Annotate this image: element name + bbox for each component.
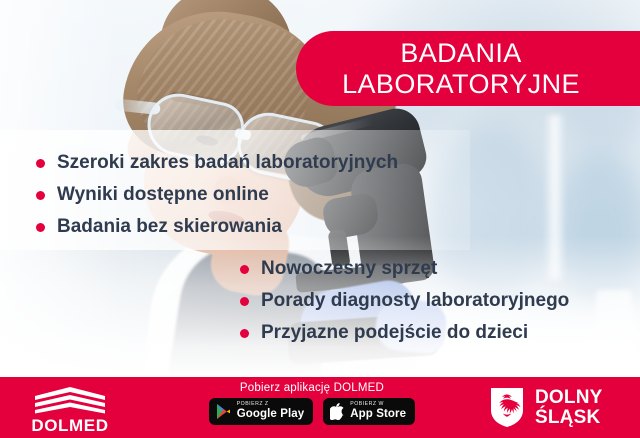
dolny-slask-wordmark: DOLNY ŚLĄSK bbox=[535, 388, 603, 427]
list-item: Szeroki zakres badań laboratoryjnych bbox=[36, 150, 398, 176]
list-item: Badania bez skierowania bbox=[36, 214, 398, 240]
bullet-dot-icon bbox=[36, 191, 45, 200]
bullet-dot-icon bbox=[240, 329, 249, 338]
google-play-icon bbox=[216, 403, 231, 420]
list-item-label: Nowoczesny sprzęt bbox=[261, 256, 437, 282]
store-badges: POBIERZ Z Google Play Pobierz w App Stor… bbox=[209, 398, 416, 425]
list-item-label: Przyjazne podejście do dzieci bbox=[261, 320, 528, 346]
list-item-label: Porady diagnosty laboratoryjnego bbox=[261, 288, 569, 314]
bullet-dot-icon bbox=[36, 223, 45, 232]
google-play-badge-big: Google Play bbox=[237, 409, 305, 421]
app-download-title: Pobierz aplikację DOLMED bbox=[240, 382, 384, 394]
list-item: Porady diagnosty laboratoryjnego bbox=[240, 288, 569, 314]
dolmed-roof-icon bbox=[33, 386, 107, 414]
dolny-slask-line-1: DOLNY bbox=[535, 388, 603, 407]
bullet-dot-icon bbox=[240, 265, 249, 274]
app-store-badge-small: Pobierz w bbox=[350, 402, 406, 407]
app-download-block: Pobierz aplikację DOLMED POBIERZ Z Googl… bbox=[200, 382, 424, 425]
list-item: Przyjazne podejście do dzieci bbox=[240, 320, 569, 346]
banner-title-line-2: LABORATORYJNE bbox=[342, 69, 580, 100]
feature-list-primary: Szeroki zakres badań laboratoryjnych Wyn… bbox=[36, 150, 398, 246]
feature-list-secondary: Nowoczesny sprzęt Porady diagnosty labor… bbox=[240, 256, 569, 352]
banner-title-line-1: BADANIA bbox=[400, 38, 521, 69]
app-store-badge-big: App Store bbox=[350, 409, 406, 421]
poster: BADANIA LABORATORYJNE Szeroki zakres bad… bbox=[0, 0, 640, 438]
dolny-slask-logo[interactable]: DOLNY ŚLĄSK bbox=[489, 386, 603, 428]
apple-icon bbox=[330, 403, 344, 420]
list-item-label: Wyniki dostępne online bbox=[57, 182, 269, 208]
app-store-badge-text: Pobierz w App Store bbox=[350, 402, 406, 421]
list-item: Wyniki dostępne online bbox=[36, 182, 398, 208]
google-play-badge[interactable]: POBIERZ Z Google Play bbox=[209, 398, 314, 425]
app-store-badge[interactable]: Pobierz w App Store bbox=[323, 398, 415, 425]
bullet-dot-icon bbox=[36, 159, 45, 168]
list-item-label: Szeroki zakres badań laboratoryjnych bbox=[57, 150, 398, 176]
dolmed-logo[interactable]: DOLMED bbox=[20, 386, 120, 436]
dolmed-wordmark: DOLMED bbox=[31, 416, 108, 436]
title-banner: BADANIA LABORATORYJNE bbox=[296, 31, 640, 106]
list-item: Nowoczesny sprzęt bbox=[240, 256, 569, 282]
google-play-badge-small: POBIERZ Z bbox=[237, 402, 305, 407]
lower-silesia-eagle-crest-icon bbox=[489, 386, 525, 428]
bullet-dot-icon bbox=[240, 297, 249, 306]
dolny-slask-line-2: ŚLĄSK bbox=[535, 408, 603, 427]
list-item-label: Badania bez skierowania bbox=[57, 214, 282, 240]
google-play-badge-text: POBIERZ Z Google Play bbox=[237, 402, 305, 421]
